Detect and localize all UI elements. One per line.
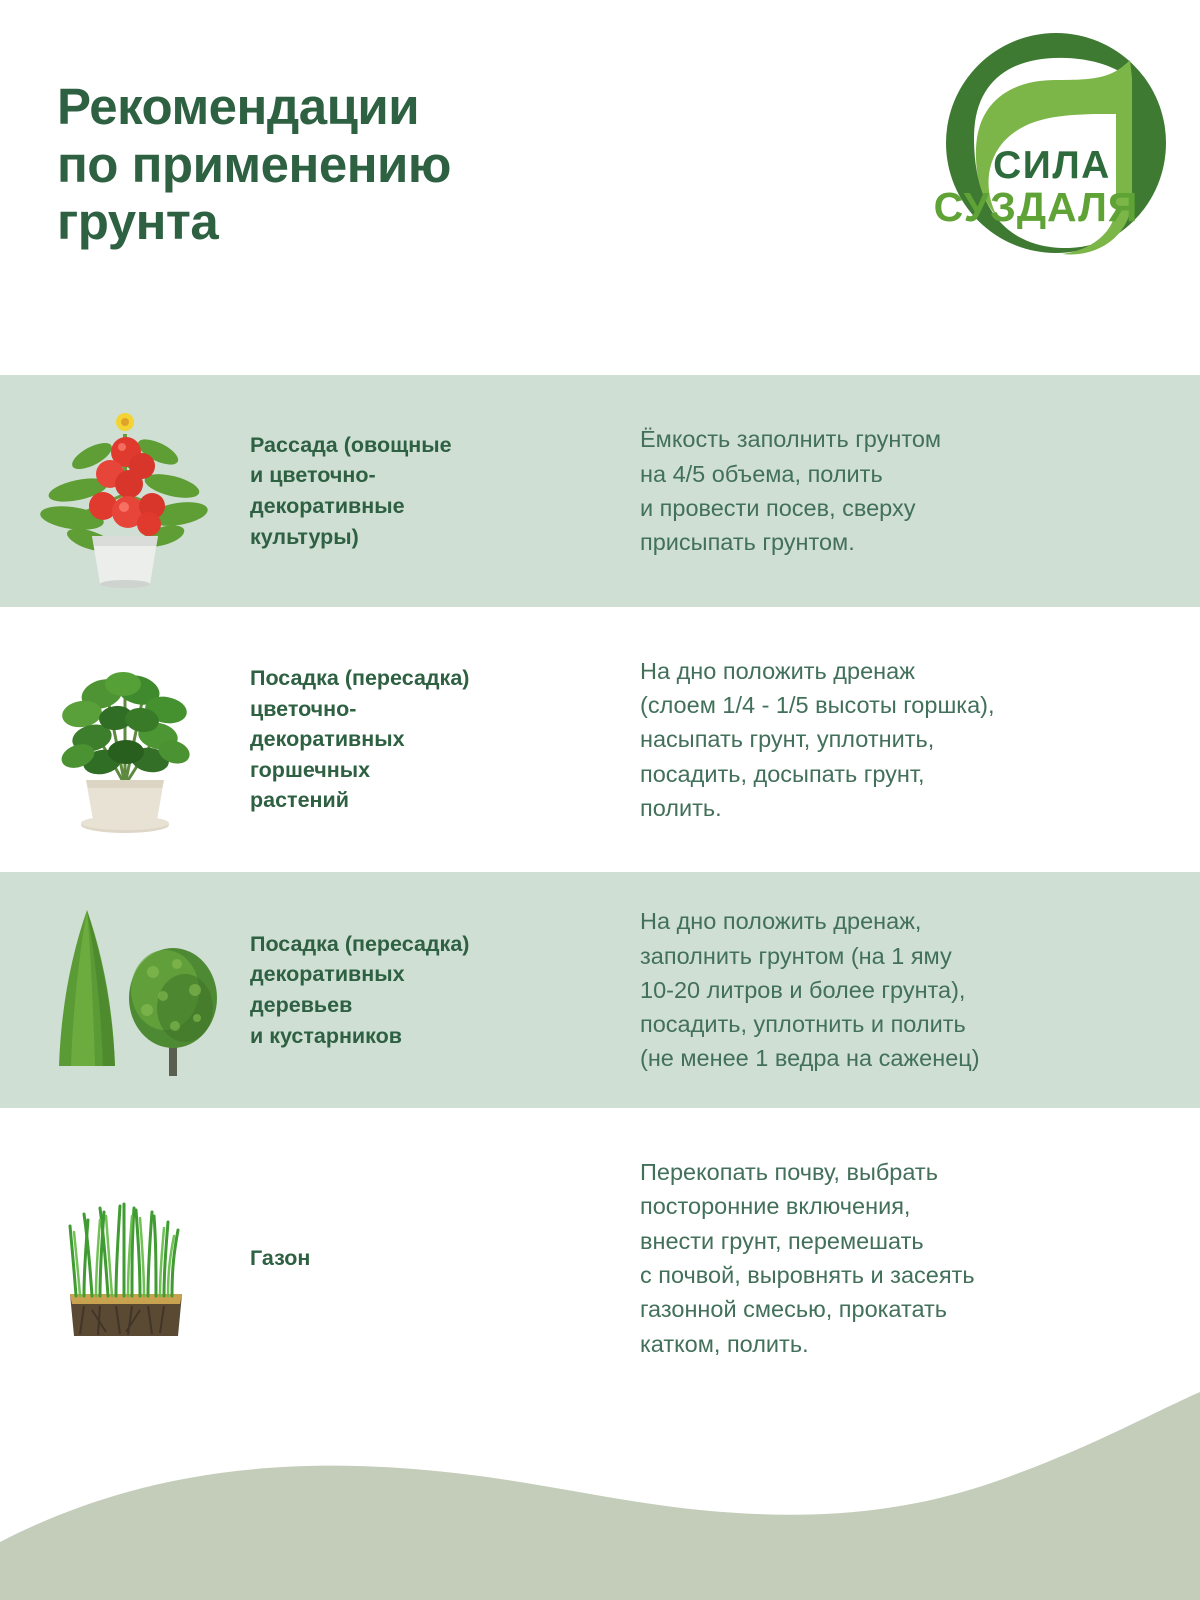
table-row: Посадка (пересадка) цветочно- декоративн…	[0, 607, 1200, 872]
row-title: Посадка (пересадка) цветочно- декоративн…	[250, 663, 640, 816]
logo-text-line2: СУЗДАЛЯ	[934, 184, 1139, 230]
lawn-turf-block-image	[28, 1168, 223, 1348]
row-description: Перекопать почву, выбрать посторонние вк…	[640, 1155, 1200, 1361]
row-title: Газон	[250, 1243, 640, 1274]
row-description: На дно положить дренаж, заполнить грунто…	[640, 904, 1200, 1075]
table-row: Рассада (овощные и цветочно- декоративны…	[0, 375, 1200, 607]
page-title: Рекомендации по применению грунта	[57, 78, 451, 251]
wave-shape	[0, 1392, 1200, 1600]
row-title: Посадка (пересадка) декоративных деревье…	[250, 929, 640, 1051]
conifer-tree-shape	[59, 910, 115, 1066]
row-description: Ёмкость заполнить грунтом на 4/5 объема,…	[640, 422, 1200, 559]
table-row: Посадка (пересадка) декоративных деревье…	[0, 872, 1200, 1108]
table-row: Газон Перекопать почву, выбрать посторон…	[0, 1108, 1200, 1408]
row-image-cell	[0, 375, 250, 607]
row-image-cell	[0, 607, 250, 872]
logo-text-line1: СИЛА	[993, 144, 1111, 187]
bottom-wave-decoration	[0, 1370, 1200, 1600]
recommendations-table: Рассада (овощные и цветочно- декоративны…	[0, 375, 1200, 1408]
row-image-cell	[0, 872, 250, 1108]
page-header: Рекомендации по применению грунта СИЛА С…	[0, 0, 1200, 375]
row-image-cell	[0, 1108, 250, 1408]
brand-logo: СИЛА СУЗДАЛЯ	[916, 18, 1182, 284]
decorative-trees-and-shrubs-image	[25, 898, 225, 1083]
row-title: Рассада (овощные и цветочно- декоративны…	[250, 430, 640, 552]
tomato-flower-shape	[116, 413, 134, 431]
row-description: На дно положить дренаж (слоем 1/4 - 1/5 …	[640, 654, 1200, 825]
potted-houseplant-image	[30, 640, 220, 840]
tomato-seedling-in-pot-image	[30, 394, 220, 589]
topiary-tree-shape	[129, 948, 217, 1076]
